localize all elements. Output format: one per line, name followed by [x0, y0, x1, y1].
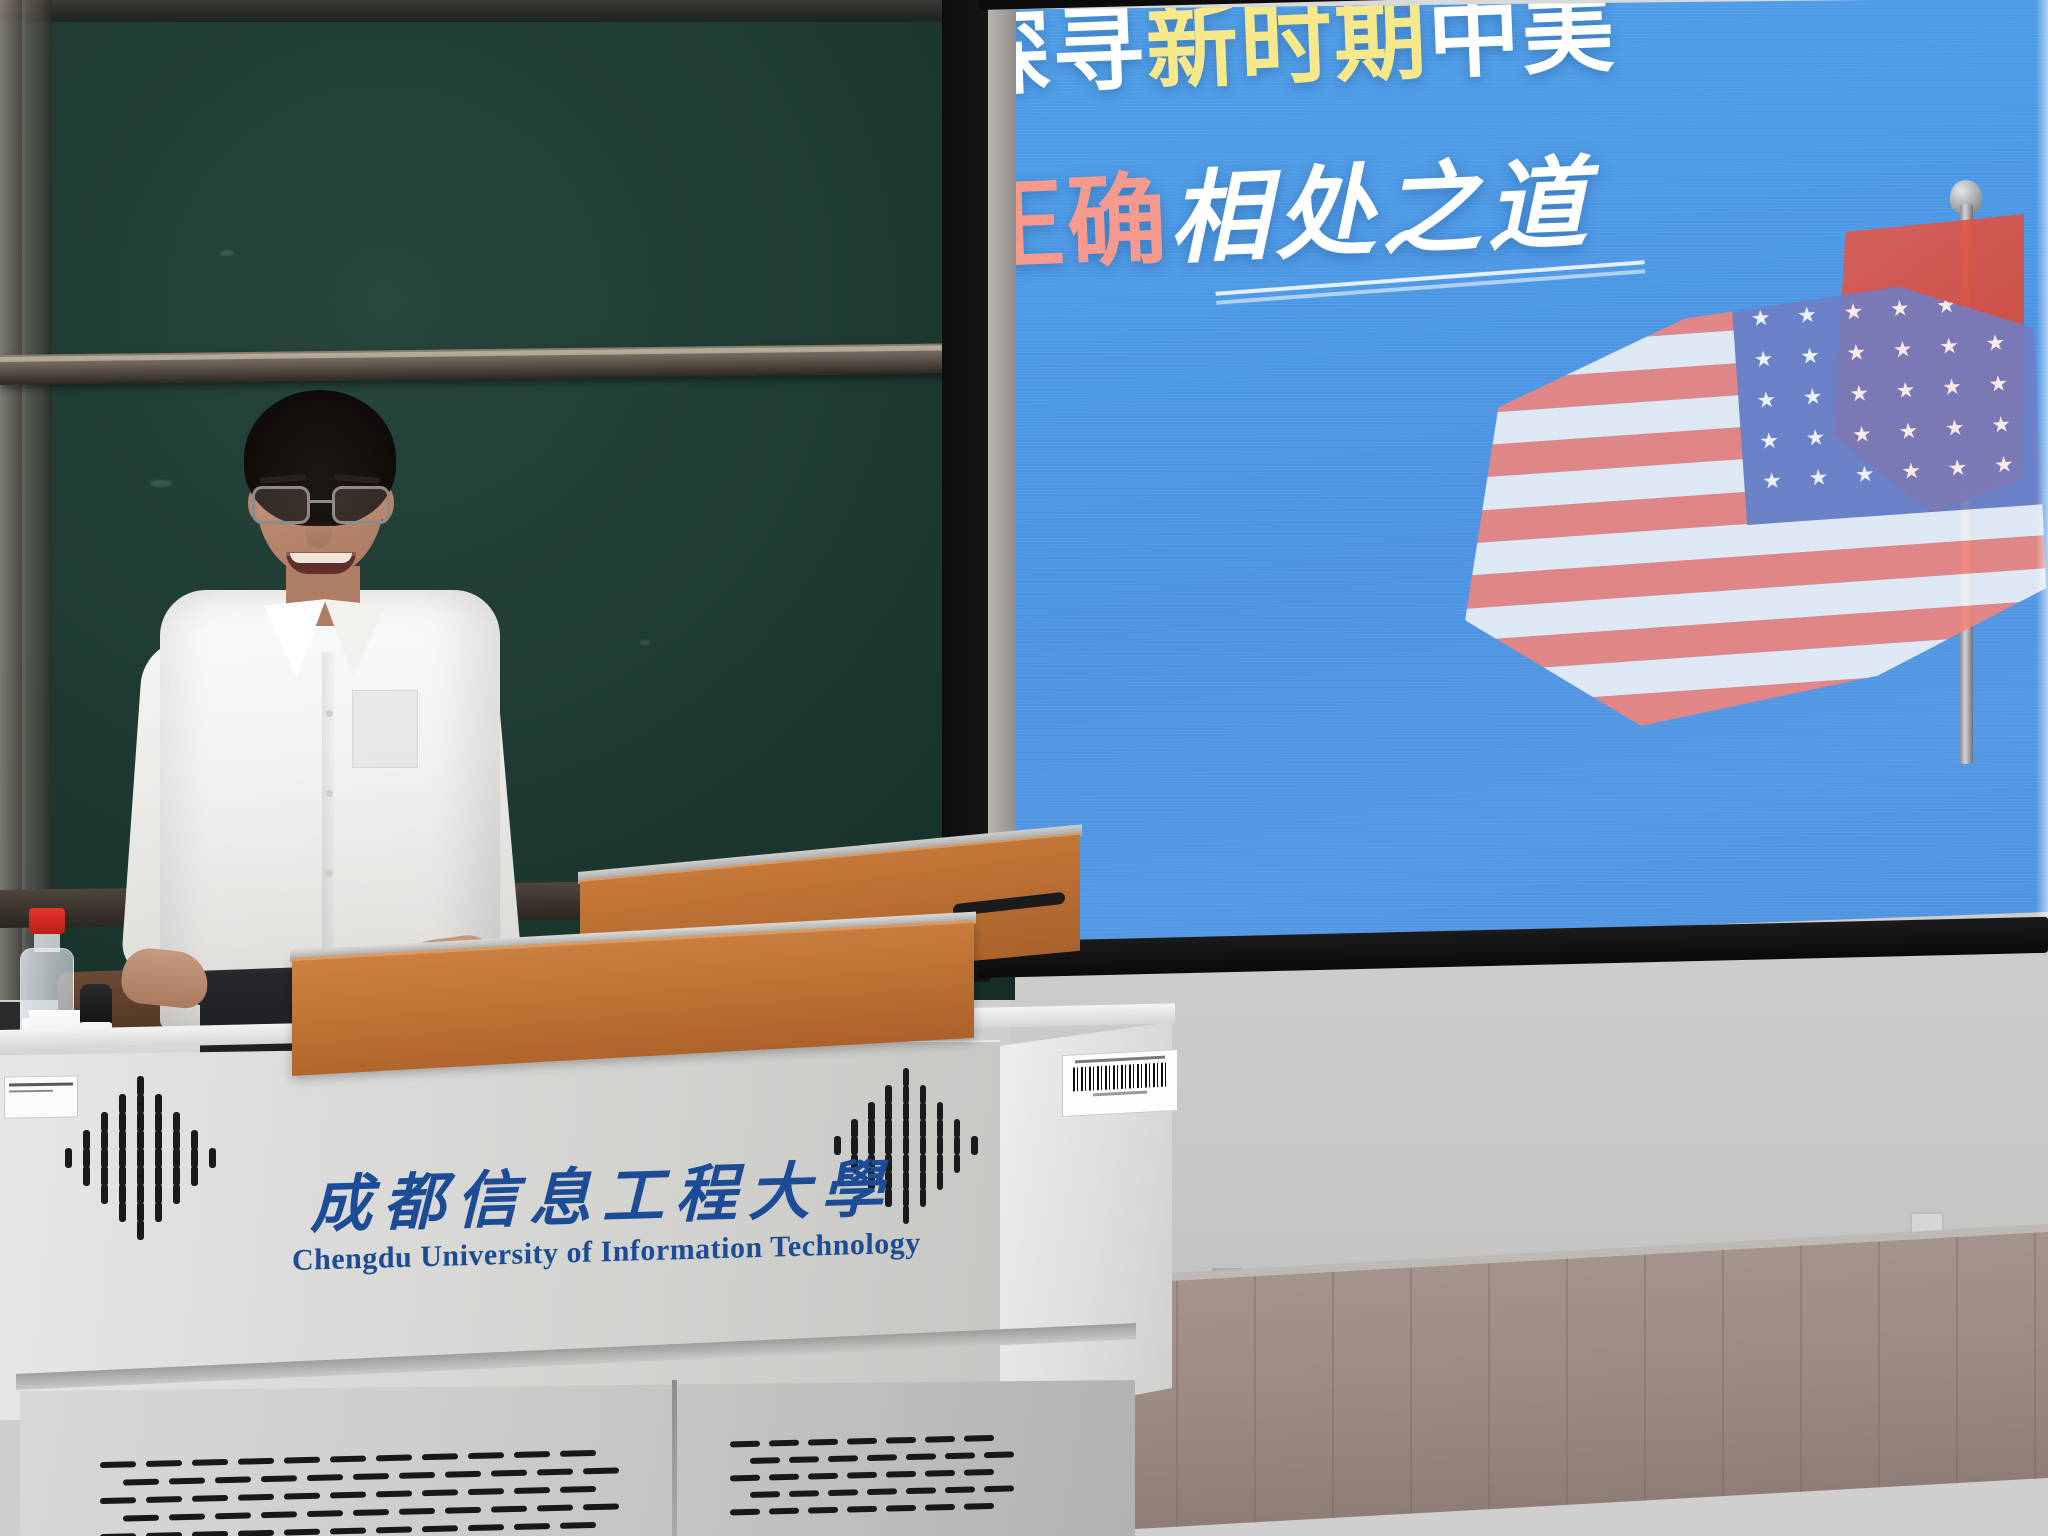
slide-title-line-1: 探寻新时期中美: [1016, 0, 1720, 116]
grille-slot: [137, 1112, 144, 1132]
vent-slot: [261, 1511, 297, 1518]
vent-slot: [146, 1496, 182, 1503]
vent-slot: [307, 1474, 343, 1481]
vent-slot: [514, 1451, 550, 1458]
grille-slot: [954, 1136, 961, 1155]
floor-plank: [1644, 1254, 1646, 1500]
grille-slot: [119, 1130, 126, 1150]
grille-slot: [119, 1202, 126, 1222]
vent-slot: [750, 1457, 780, 1464]
vent-slot: [215, 1476, 251, 1483]
grille-slot: [137, 1166, 144, 1186]
grille-slot: [137, 1148, 144, 1168]
vent-slot: [215, 1512, 251, 1519]
vendor-label-line: [9, 1082, 73, 1086]
vent-slot: [886, 1505, 916, 1512]
flag-star: ★: [1985, 329, 2007, 356]
vent-slot: [422, 1489, 458, 1496]
vent-slot: [537, 1505, 573, 1512]
podium-nameplate: 成都信息工程大學 Chengdu University of Informati…: [292, 1153, 912, 1310]
shirt-button: [326, 870, 333, 877]
vent-slot: [560, 1486, 596, 1493]
vent-slot: [964, 1435, 994, 1442]
vent-slot: [284, 1457, 320, 1464]
lecture-hall-screenshot: ★★★★★★★★★★★★★★★★★★★★★★★★★★★★★★ 探寻新时期中美 正…: [0, 0, 2048, 1536]
vent-slot: [445, 1471, 481, 1478]
vent-slot: [808, 1439, 838, 1446]
vent-slot: [808, 1507, 838, 1514]
chalk-smudge: [220, 250, 234, 256]
vent-slot: [353, 1473, 389, 1480]
cabinet-vent-right: [730, 1435, 1010, 1532]
grille-slot: [137, 1220, 144, 1240]
flag-star: ★: [1900, 458, 1922, 485]
flag-star: ★: [1895, 377, 1917, 404]
flag-star: ★: [1846, 339, 1867, 366]
vent-slot: [945, 1486, 975, 1493]
eyeglass-lens-right: [332, 486, 390, 524]
vent-slot: [169, 1478, 205, 1485]
flag-star: ★: [1944, 414, 1966, 441]
blackboard-top-edge: [0, 0, 1015, 22]
flag-star: ★: [1761, 468, 1782, 495]
shirt-button: [326, 710, 333, 717]
vent-slot: [468, 1488, 504, 1495]
grille-slot: [137, 1130, 144, 1150]
grille-slot: [101, 1148, 108, 1168]
vent-slot: [146, 1460, 182, 1467]
vent-slot: [330, 1528, 366, 1535]
vent-slot: [422, 1525, 458, 1532]
flag-star: ★: [1799, 342, 1821, 369]
grille-slot: [65, 1148, 72, 1168]
grille-slot: [920, 1136, 927, 1155]
vent-slot: [867, 1454, 897, 1461]
flag-star: ★: [1802, 383, 1824, 410]
flag-star: ★: [1889, 295, 1911, 322]
vent-slot: [146, 1532, 182, 1536]
vent-slot: [964, 1469, 994, 1476]
vent-slot: [468, 1452, 504, 1459]
floor-plank: [1878, 1241, 1880, 1487]
vent-slot: [238, 1458, 274, 1465]
vent-slot: [192, 1495, 228, 1502]
grille-slot: [101, 1130, 108, 1150]
flag-star: ★: [1796, 302, 1818, 329]
chalk-smudge: [640, 640, 650, 645]
vent-slot: [964, 1503, 994, 1510]
grille-slot: [83, 1148, 90, 1168]
vent-slot: [376, 1454, 412, 1461]
vent-slot: [560, 1522, 596, 1529]
grille-slot: [155, 1130, 162, 1150]
vent-slot: [945, 1452, 975, 1459]
vent-slot: [789, 1456, 819, 1463]
vent-slot: [169, 1514, 205, 1521]
vendor-label-line: [9, 1090, 53, 1093]
vent-slot: [468, 1524, 504, 1531]
asset-barcode-label: [1062, 1049, 1178, 1117]
vent-slot: [330, 1492, 366, 1499]
shirt-button: [326, 790, 333, 797]
vent-slot: [422, 1453, 458, 1460]
grille-slot: [920, 1188, 927, 1207]
flag-star: ★: [1854, 461, 1875, 488]
vent-slot: [560, 1450, 596, 1457]
floor-plank: [1410, 1268, 1412, 1514]
floor-plank: [1488, 1263, 1490, 1509]
floor-plank: [1254, 1276, 1256, 1522]
grille-slot: [920, 1171, 927, 1190]
vent-slot: [491, 1506, 527, 1513]
flag-star: ★: [1843, 298, 1865, 325]
vent-slot: [261, 1475, 297, 1482]
vent-slot: [537, 1469, 573, 1476]
vent-slot: [808, 1473, 838, 1480]
vent-slot: [984, 1485, 1014, 1492]
grille-slot: [119, 1112, 126, 1132]
vent-slot: [445, 1507, 481, 1514]
grille-slot: [101, 1166, 108, 1186]
vent-slot: [399, 1472, 435, 1479]
grille-slot: [937, 1154, 944, 1173]
floor-plank: [1722, 1250, 1724, 1496]
grille-slot: [191, 1130, 198, 1150]
vent-slot: [284, 1493, 320, 1500]
grille-slot: [155, 1166, 162, 1186]
presenter-teeth: [290, 553, 352, 563]
vent-slot: [192, 1459, 228, 1466]
flag-star: ★: [1938, 333, 1959, 360]
vent-slot: [730, 1509, 760, 1516]
shirt-pocket: [352, 690, 418, 768]
grille-slot: [119, 1184, 126, 1204]
vent-slot: [828, 1455, 858, 1462]
podium: 成都信息工程大學 Chengdu University of Informati…: [0, 880, 1250, 1536]
flag-star: ★: [1753, 346, 1775, 373]
flag-star: ★: [1750, 305, 1772, 332]
flag-star: ★: [1892, 336, 1913, 363]
grille-slot: [954, 1154, 961, 1173]
projection-screen: ★★★★★★★★★★★★★★★★★★★★★★★★★★★★★★ 探寻新时期中美 正…: [988, 0, 2048, 992]
grille-slot: [173, 1130, 180, 1150]
vent-slot: [376, 1526, 412, 1533]
vent-slot: [123, 1479, 159, 1486]
grille-slot: [119, 1094, 126, 1114]
vent-slot: [925, 1504, 955, 1511]
grille-slot: [155, 1112, 162, 1132]
vent-slot: [906, 1487, 936, 1494]
vent-slot: [491, 1470, 527, 1477]
vent-slot: [867, 1488, 897, 1495]
floor-plank: [1956, 1237, 1958, 1483]
flag-star: ★: [1990, 411, 2012, 438]
grille-slot: [155, 1184, 162, 1204]
grille-slot: [209, 1148, 216, 1168]
flag-star: ★: [1808, 465, 1829, 492]
presenter-nose: [306, 520, 332, 548]
grille-slot: [83, 1166, 90, 1186]
vent-slot: [100, 1497, 136, 1504]
grille-slot: [101, 1112, 108, 1132]
vent-slot: [925, 1436, 955, 1443]
vent-slot: [730, 1441, 760, 1448]
vent-slot: [828, 1489, 858, 1496]
grille-slot: [137, 1094, 144, 1114]
asset-label-line: [1075, 1056, 1165, 1064]
vent-slot: [399, 1508, 435, 1515]
slide-title-seg-2: 新时期: [1144, 0, 1430, 103]
slide-title-line-2: 正确相处之道: [1016, 133, 1727, 294]
grille-slot: [101, 1184, 108, 1204]
grille-slot: [173, 1148, 180, 1168]
floor-plank: [1800, 1246, 1802, 1492]
flag-star: ★: [1851, 421, 1873, 448]
vent-slot: [192, 1531, 228, 1536]
grille-slot: [155, 1148, 162, 1168]
vent-slot: [886, 1437, 916, 1444]
vent-slot: [769, 1440, 799, 1447]
grille-slot: [191, 1148, 198, 1168]
grille-slot: [173, 1184, 180, 1204]
vent-slot: [583, 1467, 619, 1474]
floor-plank: [1332, 1272, 1334, 1518]
eyeglass-lens-left: [252, 486, 310, 524]
cabinet-door-seam: [672, 1380, 677, 1536]
grille-slot: [137, 1184, 144, 1204]
vent-slot: [847, 1438, 877, 1445]
slide-title-seg-3: 中美: [1426, 0, 1618, 92]
grille-slot: [137, 1076, 144, 1096]
vent-slot: [514, 1523, 550, 1530]
flag-star: ★: [1947, 455, 1969, 482]
floor-plank: [2034, 1233, 2036, 1479]
vent-slot: [769, 1508, 799, 1515]
slide-title-block: 探寻新时期中美 正确相处之道: [1016, 0, 1727, 294]
grille-slot: [155, 1202, 162, 1222]
barcode-icon: [1073, 1063, 1167, 1092]
slide-subtitle-seg-2: 相处之道: [1166, 145, 1594, 278]
vent-slot: [769, 1474, 799, 1481]
flag-star: ★: [1941, 373, 1963, 400]
vent-slot: [238, 1530, 274, 1536]
vendor-label: [4, 1075, 78, 1118]
vent-slot: [238, 1494, 274, 1501]
grille-slot: [937, 1171, 944, 1190]
screen-right-glare: [2036, 0, 2048, 952]
grille-slot: [83, 1130, 90, 1150]
vent-slot: [886, 1471, 916, 1478]
vent-slot: [100, 1461, 136, 1468]
flag-star: ★: [1848, 380, 1870, 407]
asset-label-number: [1093, 1091, 1147, 1097]
flag-star: ★: [1988, 370, 2010, 397]
vent-slot: [307, 1510, 343, 1517]
vent-slot: [730, 1475, 760, 1482]
flag-star: ★: [1993, 452, 2015, 479]
vent-slot: [984, 1451, 1014, 1458]
united-states-flag-icon: ★★★★★★★★★★★★★★★★★★★★★★★★★★★★★★: [1432, 278, 2048, 739]
floor-plank: [1566, 1259, 1568, 1505]
flag-star: ★: [1756, 386, 1778, 413]
grille-slot: [191, 1166, 198, 1186]
vent-slot: [123, 1515, 159, 1522]
vent-slot: [583, 1503, 619, 1510]
grille-slot: [155, 1094, 162, 1114]
vent-slot: [514, 1487, 550, 1494]
grille-slot: [920, 1154, 927, 1173]
vent-slot: [376, 1490, 412, 1497]
slide-surface: ★★★★★★★★★★★★★★★★★★★★★★★★★★★★★★ 探寻新时期中美 正…: [1016, 0, 2048, 950]
flag-star: ★: [1758, 427, 1780, 454]
vent-slot: [284, 1529, 320, 1536]
flag-star: ★: [1898, 417, 1920, 444]
vent-slot: [750, 1491, 780, 1498]
vent-slot: [925, 1470, 955, 1477]
blackboard-vertical-divider: [22, 0, 52, 1000]
grille-slot: [173, 1166, 180, 1186]
grille-slot: [834, 1136, 841, 1155]
grille-slot: [971, 1136, 978, 1155]
grille-slot: [173, 1112, 180, 1132]
grille-slot: [119, 1148, 126, 1168]
vent-slot: [847, 1472, 877, 1479]
vent-slot: [847, 1506, 877, 1513]
flag-star: ★: [1805, 424, 1827, 451]
slide-subtitle-seg-1: 正确: [1016, 161, 1171, 286]
eyeglass-bridge: [310, 500, 332, 503]
grille-slot: [137, 1202, 144, 1222]
screen-left-bezel: [988, 0, 1018, 967]
vent-slot: [353, 1509, 389, 1516]
cabinet-vent-left: [100, 1450, 600, 1536]
grille-slot: [937, 1136, 944, 1155]
vent-slot: [789, 1490, 819, 1497]
vent-slot: [330, 1456, 366, 1463]
slide-title-seg-1: 探寻: [1016, 0, 1148, 110]
vent-slot: [906, 1453, 936, 1460]
grille-slot: [119, 1166, 126, 1186]
